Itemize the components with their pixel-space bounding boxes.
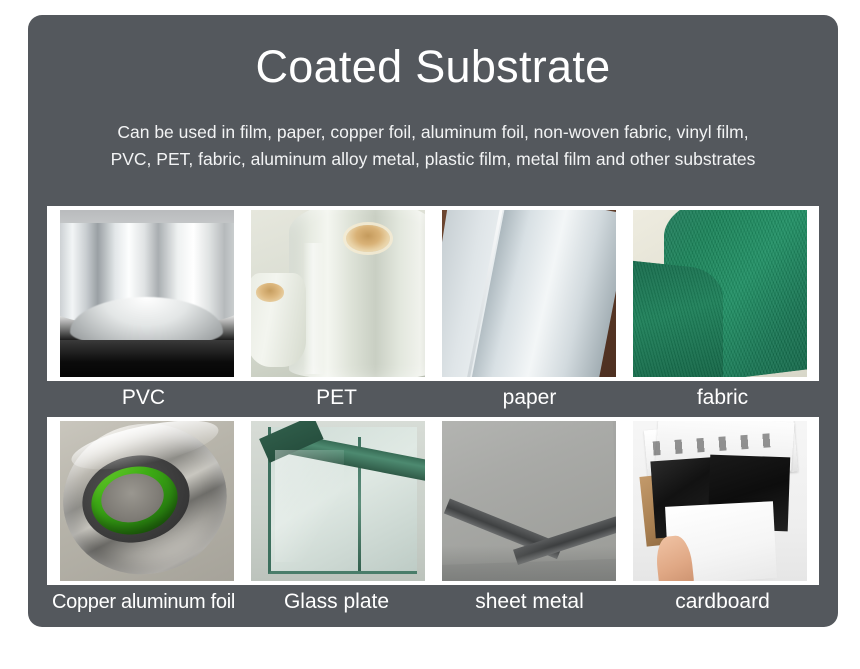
substrate-label-row-1: PVC PET paper fabric [47,383,819,415]
label-fabric: fabric [626,383,819,415]
label-sheet-metal: sheet metal [433,587,626,623]
substrate-card-paper[interactable] [433,210,624,377]
cardboard-image [633,421,807,581]
sheet-metal-image [442,421,616,581]
pet-image [251,210,425,377]
description-line-1: Can be used in film, paper, copper foil,… [42,119,824,146]
substrate-card-sheet-metal[interactable] [433,421,624,581]
substrate-card-pvc[interactable] [51,210,242,377]
label-paper: paper [433,383,626,415]
description-line-2: PVC, PET, fabric, aluminum alloy metal, … [42,146,824,173]
label-copper-aluminum-foil: Copper aluminum foil [47,587,240,623]
glass-plate-image [251,421,425,581]
label-pet: PET [240,383,433,415]
substrate-card-glass-plate[interactable] [242,421,433,581]
pvc-image [60,210,234,377]
label-pvc: PVC [47,383,240,415]
substrate-image-row-2 [47,417,819,585]
substrate-card-copper-aluminum-foil[interactable] [51,421,242,581]
copper-aluminum-foil-image [60,421,234,581]
substrate-image-row-1 [47,206,819,381]
substrate-card-fabric[interactable] [624,210,815,377]
fabric-image [633,210,807,377]
paper-image [442,210,616,377]
label-glass-plate: Glass plate [240,587,433,623]
substrate-card-pet[interactable] [242,210,433,377]
page-title: Coated Substrate [28,41,838,93]
panel-description: Can be used in film, paper, copper foil,… [42,119,824,173]
substrate-label-row-2: Copper aluminum foil Glass plate sheet m… [47,587,819,623]
substrate-card-cardboard[interactable] [624,421,815,581]
screenshot-root: Coated Substrate Can be used in film, pa… [0,0,860,669]
coated-substrate-panel: Coated Substrate Can be used in film, pa… [28,15,838,627]
label-cardboard: cardboard [626,587,819,623]
